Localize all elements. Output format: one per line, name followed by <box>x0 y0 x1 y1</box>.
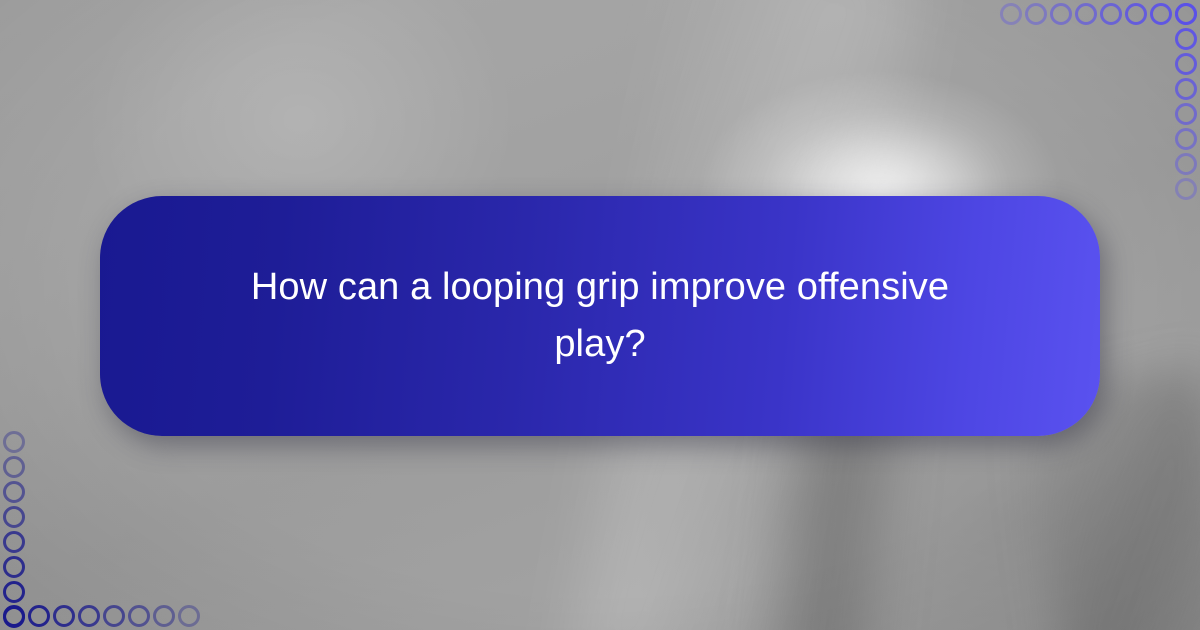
left-column-dot <box>3 481 25 503</box>
right-column-dot <box>1175 28 1197 50</box>
right-column-dot <box>1175 153 1197 175</box>
left-column-dot <box>3 506 25 528</box>
right-column-dot <box>1175 178 1197 200</box>
right-column-dot <box>1175 78 1197 100</box>
bottom-row-dot <box>178 605 200 627</box>
slide-canvas: How can a looping grip improve offensive… <box>0 0 1200 630</box>
question-text: How can a looping grip improve offensive… <box>240 259 960 373</box>
bottom-row-dot <box>103 605 125 627</box>
bottom-row-dot <box>3 605 25 627</box>
right-column-dot <box>1175 128 1197 150</box>
bottom-row-dot <box>28 605 50 627</box>
left-column-dot <box>3 456 25 478</box>
bottom-row-dot <box>128 605 150 627</box>
left-column-dot <box>3 431 25 453</box>
question-card: How can a looping grip improve offensive… <box>100 196 1100 436</box>
top-right-dot <box>1125 3 1147 25</box>
top-right-dot <box>1000 3 1022 25</box>
bottom-row-dot <box>78 605 100 627</box>
bottom-row-dot <box>153 605 175 627</box>
decorative-dots-bottom-row <box>3 605 203 627</box>
top-right-dot <box>1100 3 1122 25</box>
left-column-dot <box>3 531 25 553</box>
left-column-dot <box>3 556 25 578</box>
top-right-dot <box>1075 3 1097 25</box>
left-column-dot <box>3 581 25 603</box>
decorative-dots-right-column <box>1175 3 1197 203</box>
right-column-dot <box>1175 3 1197 25</box>
top-right-dot <box>1025 3 1047 25</box>
decorative-dots-left-column <box>3 431 25 630</box>
top-right-dot <box>1150 3 1172 25</box>
right-column-dot <box>1175 103 1197 125</box>
decorative-dots-top-right <box>1000 3 1200 25</box>
top-right-dot <box>1050 3 1072 25</box>
right-column-dot <box>1175 53 1197 75</box>
bottom-row-dot <box>53 605 75 627</box>
